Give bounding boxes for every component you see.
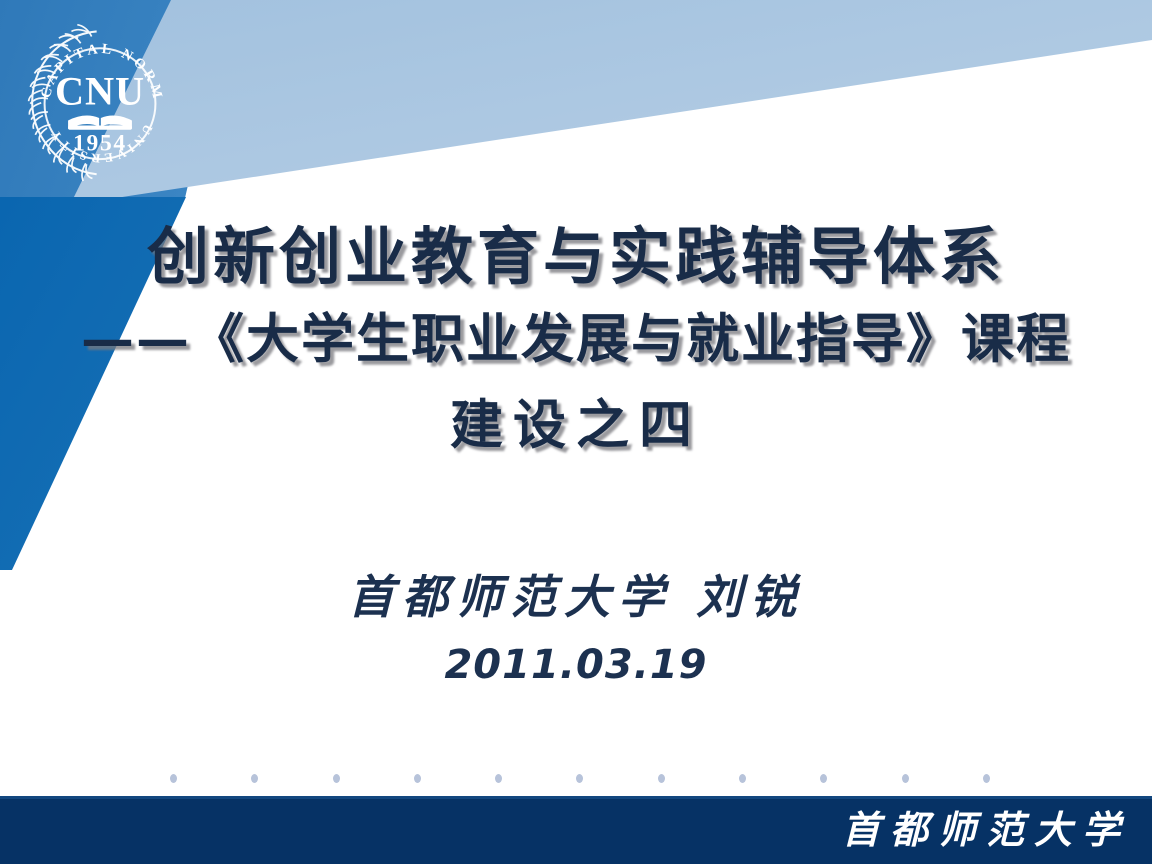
open-book-icon <box>68 116 132 130</box>
dot <box>170 774 177 783</box>
dot <box>983 774 990 783</box>
footer-bar: 首都师范大学 <box>0 796 1152 864</box>
footer-university-wordmark: 首都师范大学 <box>842 811 1130 849</box>
dot <box>739 774 746 783</box>
shape-light-wedge <box>70 0 1152 205</box>
dot <box>902 774 909 783</box>
dot <box>576 774 583 783</box>
dot <box>414 774 421 783</box>
presenter-affiliation-name: 首都师范大学 刘锐 <box>0 566 1152 628</box>
title-line-1: 创新创业教育与实践辅导体系 <box>0 218 1152 296</box>
dot <box>820 774 827 783</box>
presenter-block: 首都师范大学 刘锐 2011.03.19 <box>0 566 1152 694</box>
presentation-date: 2011.03.19 <box>0 636 1152 694</box>
title-line-2: ——《大学生职业发展与就业指导》课程 <box>0 296 1152 382</box>
title-block: 创新创业教育与实践辅导体系 ——《大学生职业发展与就业指导》课程 建设之四 <box>0 218 1152 468</box>
title-line-3: 建设之四 <box>0 382 1152 468</box>
dot <box>495 774 502 783</box>
title-slide: CAPITAL NORMAL UNIVERSITY CNU 1954 创新创业教… <box>0 0 1152 864</box>
dot-separator-row <box>170 772 990 784</box>
crest-monogram: CNU <box>55 69 145 114</box>
cnu-crest-logo: CAPITAL NORMAL UNIVERSITY CNU 1954 <box>16 18 184 186</box>
dot <box>658 774 665 783</box>
dot <box>251 774 258 783</box>
crest-year: 1954 <box>73 131 127 157</box>
dot <box>333 774 340 783</box>
footer-top-rule <box>0 796 1152 799</box>
